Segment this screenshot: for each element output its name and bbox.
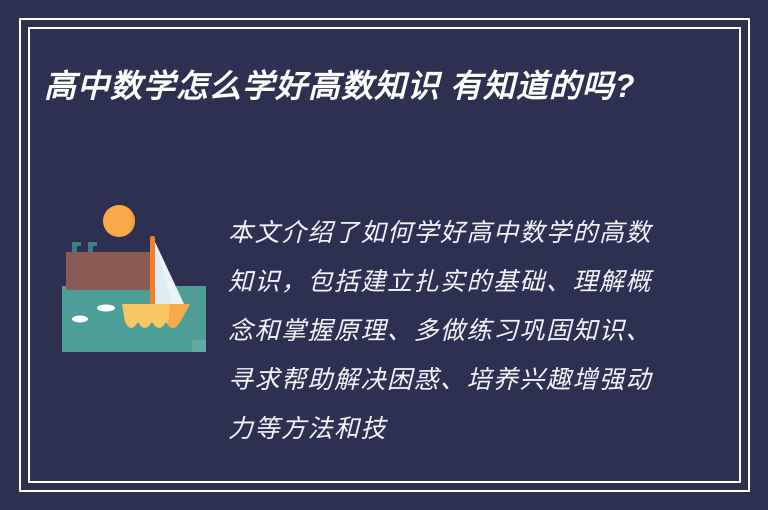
article-summary: 本文介绍了如何学好高中数学的高数知识，包括建立扎实的基础、理解概念和掌握原理、多… bbox=[228, 208, 660, 466]
poster-canvas: 高中数学怎么学好高数知识 有知道的吗? bbox=[0, 0, 768, 510]
sailboat-harbor-icon bbox=[62, 200, 206, 352]
sailboat-harbor-illustration bbox=[62, 200, 206, 352]
page-title: 高中数学怎么学好高数知识 有知道的吗? bbox=[44, 62, 684, 110]
sun-icon bbox=[103, 205, 135, 237]
dock-platform bbox=[66, 252, 152, 290]
